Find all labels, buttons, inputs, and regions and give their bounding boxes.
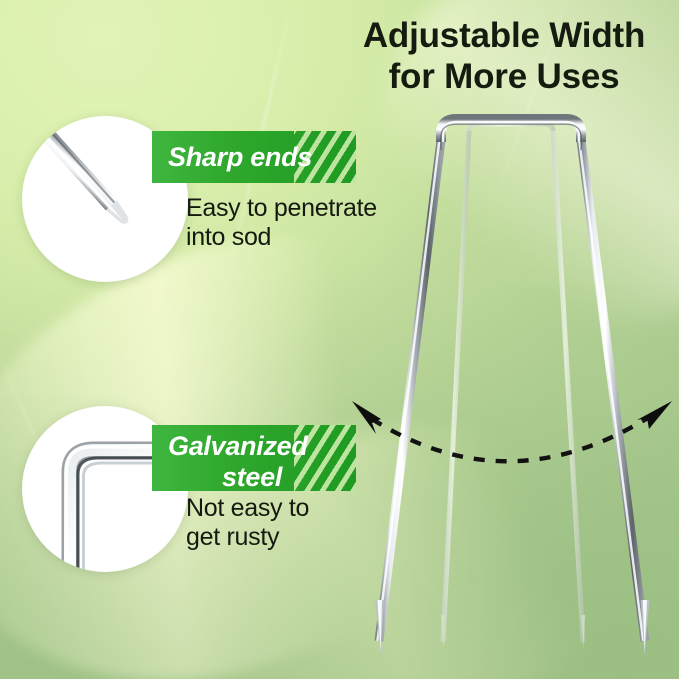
feature-banner-galvanized-steel: Galvanized steel (152, 425, 356, 491)
banner-label-wrap: Galvanized steel (152, 425, 356, 491)
feature-banner-sharp-ends: Sharp ends (152, 131, 356, 183)
feature-description-sharp-ends: Easy to penetrate into sod (186, 194, 401, 251)
page-title: Adjustable Width for More Uses (336, 16, 672, 97)
banner-label: Galvanized (168, 431, 308, 461)
desc-line-1: Not easy to (186, 494, 401, 523)
desc-line-2: into sod (186, 223, 401, 252)
title-line-2: for More Uses (336, 57, 672, 98)
banner-label: Sharp ends (152, 131, 356, 171)
infographic-canvas: Adjustable Width for More Uses (0, 0, 679, 679)
title-line-1: Adjustable Width (336, 16, 672, 57)
desc-line-1: Easy to penetrate (186, 194, 401, 223)
banner-label-line-2: steel (168, 460, 356, 491)
desc-line-2: get rusty (186, 523, 401, 552)
feature-description-galvanized-steel: Not easy to get rusty (186, 494, 401, 551)
